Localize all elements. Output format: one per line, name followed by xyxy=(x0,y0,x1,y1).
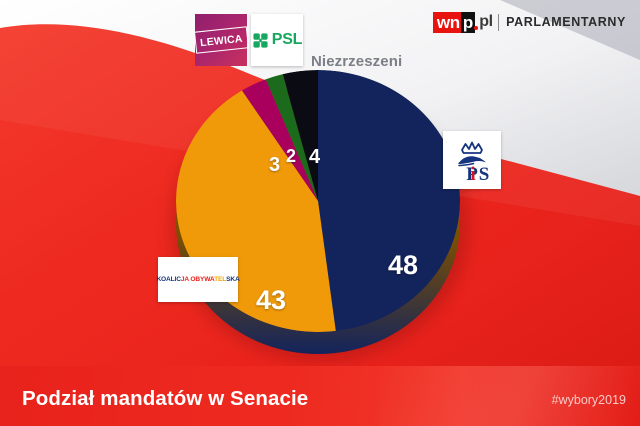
ko-text-part4: SKA xyxy=(226,276,239,283)
lewica-logo-text: LEWICA xyxy=(199,33,243,49)
ko-text-part2: JA OBYWA xyxy=(181,276,214,283)
svg-text:i: i xyxy=(470,164,475,185)
logo-card-pis[interactable]: P S i xyxy=(443,131,501,189)
slice-value-pis: 48 xyxy=(388,250,418,281)
bottom-banner: Podział mandatów w Senacie #wybory2019 xyxy=(0,366,640,426)
koalicja-logo-text: KOALICJA OBYWATELSKA xyxy=(156,276,239,283)
slice-value-koalicja: 43 xyxy=(256,285,286,316)
wnp-logo-wn: wn xyxy=(433,12,461,33)
label-niezrzeszeni: Niezrzeszeni xyxy=(311,53,402,70)
clover-icon xyxy=(252,32,269,49)
slice-value-psl: 2 xyxy=(286,146,296,167)
wnp-logo-pl: pl xyxy=(479,13,492,31)
slice-value-lewica: 3 xyxy=(269,154,280,177)
ko-text-part3: TEL xyxy=(214,276,226,283)
infographic-root: wn p pl PARLAMENTARNY 48 43 3 2 4 Niezrz… xyxy=(0,0,640,426)
wnp-logo-section: PARLAMENTARNY xyxy=(506,15,626,29)
lewica-logo-frame: LEWICA xyxy=(194,26,249,53)
wnp-logo-dot xyxy=(474,26,478,30)
slice-value-niezrzeszeni: 4 xyxy=(309,146,320,169)
svg-text:S: S xyxy=(479,164,490,185)
eagle-crown-icon: P S i xyxy=(446,134,498,186)
senate-seats-pie-chart: 48 43 3 2 4 xyxy=(176,70,466,370)
banner-hashtag: #wybory2019 xyxy=(552,393,626,407)
logo-card-lewica[interactable]: LEWICA xyxy=(195,14,247,66)
wnp-logo-p: p xyxy=(461,12,475,33)
psl-logo-text: PSL xyxy=(272,31,303,49)
logo-card-psl[interactable]: PSL xyxy=(251,14,303,66)
wnp-logo[interactable]: wn p pl PARLAMENTARNY xyxy=(433,11,626,33)
banner-title: Podział mandatów w Senacie xyxy=(22,387,308,411)
ko-text-part1: KOALIC xyxy=(156,276,180,283)
logo-divider xyxy=(498,14,500,31)
logo-card-koalicja-obywatelska[interactable]: KOALICJA OBYWATELSKA xyxy=(158,257,238,302)
